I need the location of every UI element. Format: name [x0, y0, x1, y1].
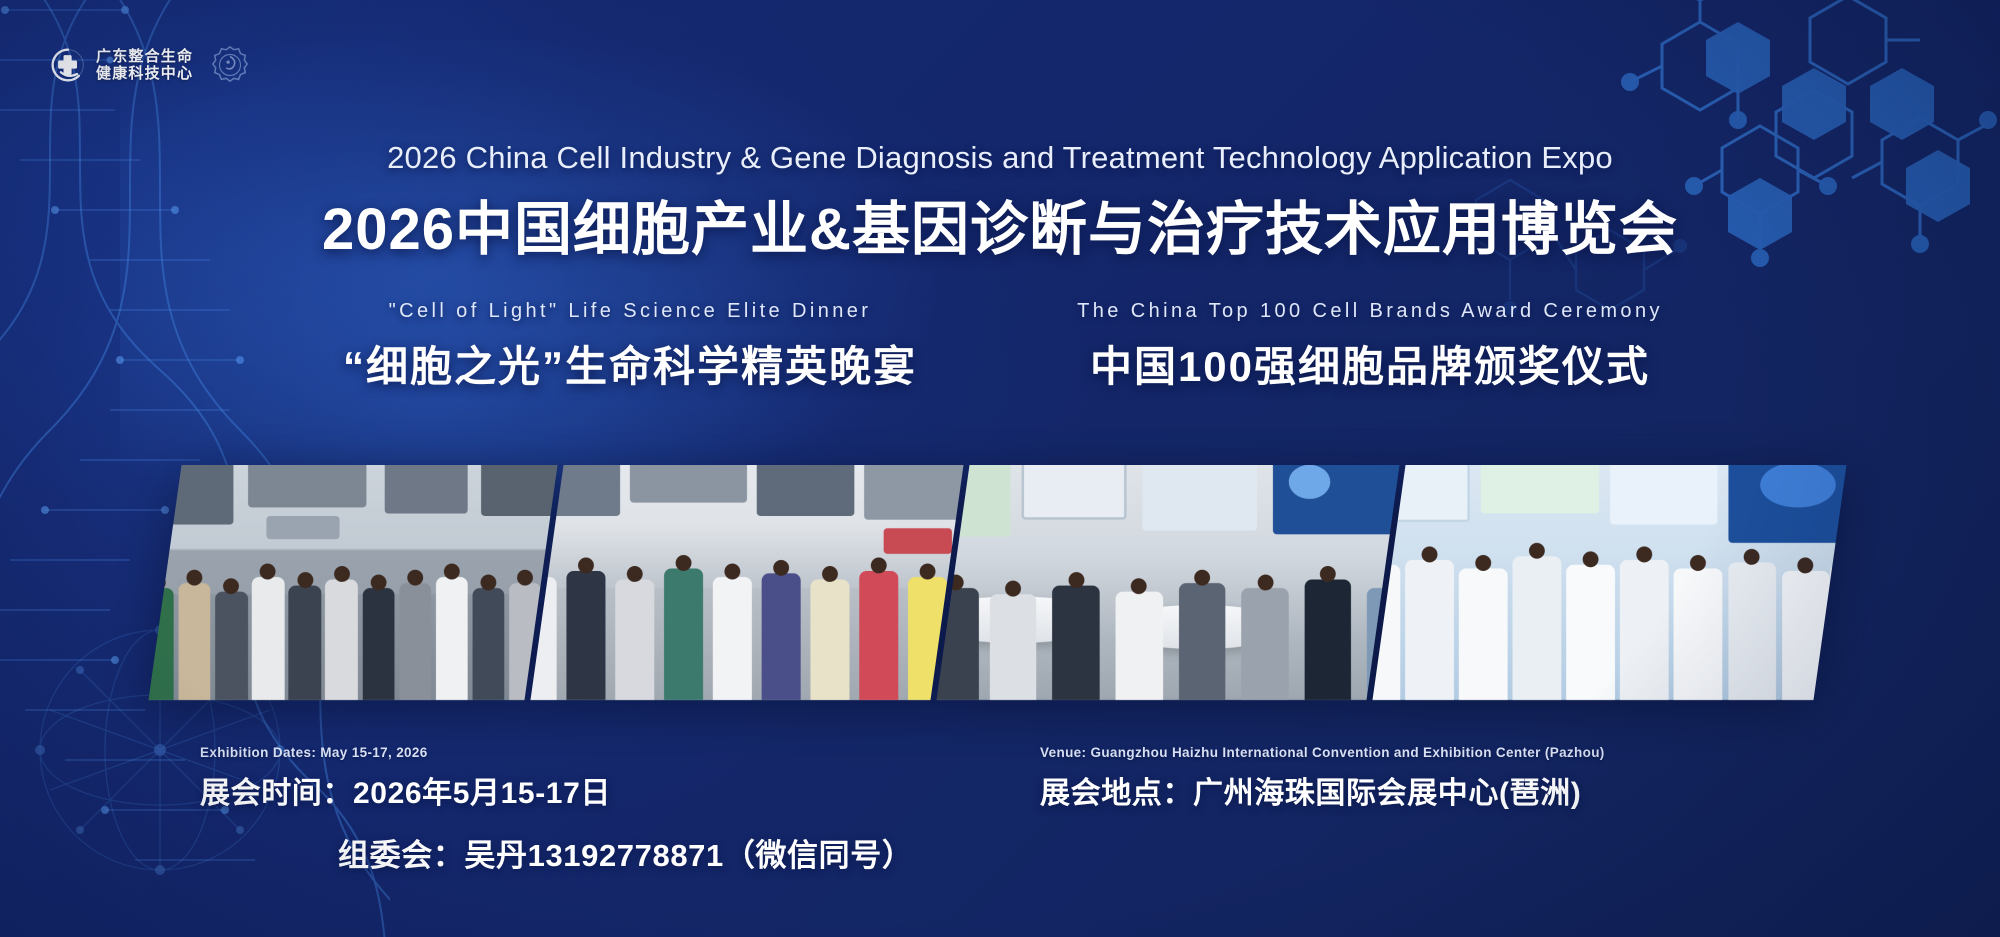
title-english: 2026 China Cell Industry & Gene Diagnosi… — [0, 140, 2000, 176]
subevent-award-chinese: 中国100强细胞品牌颁奖仪式 — [1050, 333, 1690, 394]
organization-logo: 广东整合生命 健康科技中心 — [50, 44, 251, 86]
subevent-dinner: "Cell of Light" Life Science Elite Dinne… — [310, 300, 950, 394]
subevent-award-english: The China Top 100 Cell Brands Award Cere… — [1050, 300, 1690, 323]
poster-canvas: 广东整合生命 健康科技中心 2026 China Cell Industry &… — [0, 0, 2000, 937]
photo-exhibition-aisle-visitors — [530, 465, 963, 700]
dates-english: Exhibition Dates: May 15-17, 2026 — [200, 745, 960, 760]
subevent-dinner-english: "Cell of Light" Life Science Elite Dinne… — [310, 300, 950, 323]
subevent-row: "Cell of Light" Life Science Elite Dinne… — [0, 300, 2000, 394]
gear-seal-icon — [209, 44, 251, 86]
dates-chinese: 展会时间：2026年5月15-17日 — [200, 768, 960, 812]
photo-booth-meeting-tables — [936, 465, 1399, 700]
photo-white-coat-group — [1372, 465, 1846, 700]
medical-cross-globe-icon — [50, 47, 86, 83]
subevent-award: The China Top 100 Cell Brands Award Cere… — [1050, 300, 1690, 394]
photo-expo-hall-crowd — [148, 465, 557, 700]
title-chinese: 2026中国细胞产业&基因诊断与治疗技术应用博览会 — [0, 182, 2000, 266]
organization-name: 广东整合生命 健康科技中心 — [96, 48, 193, 82]
contact-chinese: 组委会：吴丹13192778871（微信同号） — [338, 830, 2000, 875]
event-info-row: Exhibition Dates: May 15-17, 2026 展会时间：2… — [0, 745, 2000, 812]
org-line-1: 广东整合生命 — [96, 48, 193, 65]
main-title-block: 2026 China Cell Industry & Gene Diagnosi… — [0, 140, 2000, 266]
organizing-committee-block: 组委会：吴丹13192778871（微信同号） — [0, 830, 2000, 875]
event-venue-block: Venue: Guangzhou Haizhu International Co… — [1040, 745, 1800, 812]
photo-strip — [148, 465, 1846, 700]
subevent-dinner-chinese: “细胞之光”生命科学精英晚宴 — [310, 333, 950, 394]
event-dates-block: Exhibition Dates: May 15-17, 2026 展会时间：2… — [200, 745, 960, 812]
org-line-2: 健康科技中心 — [96, 65, 193, 82]
venue-chinese: 展会地点：广州海珠国际会展中心(琶洲) — [1040, 768, 1800, 812]
venue-english: Venue: Guangzhou Haizhu International Co… — [1040, 745, 1800, 760]
